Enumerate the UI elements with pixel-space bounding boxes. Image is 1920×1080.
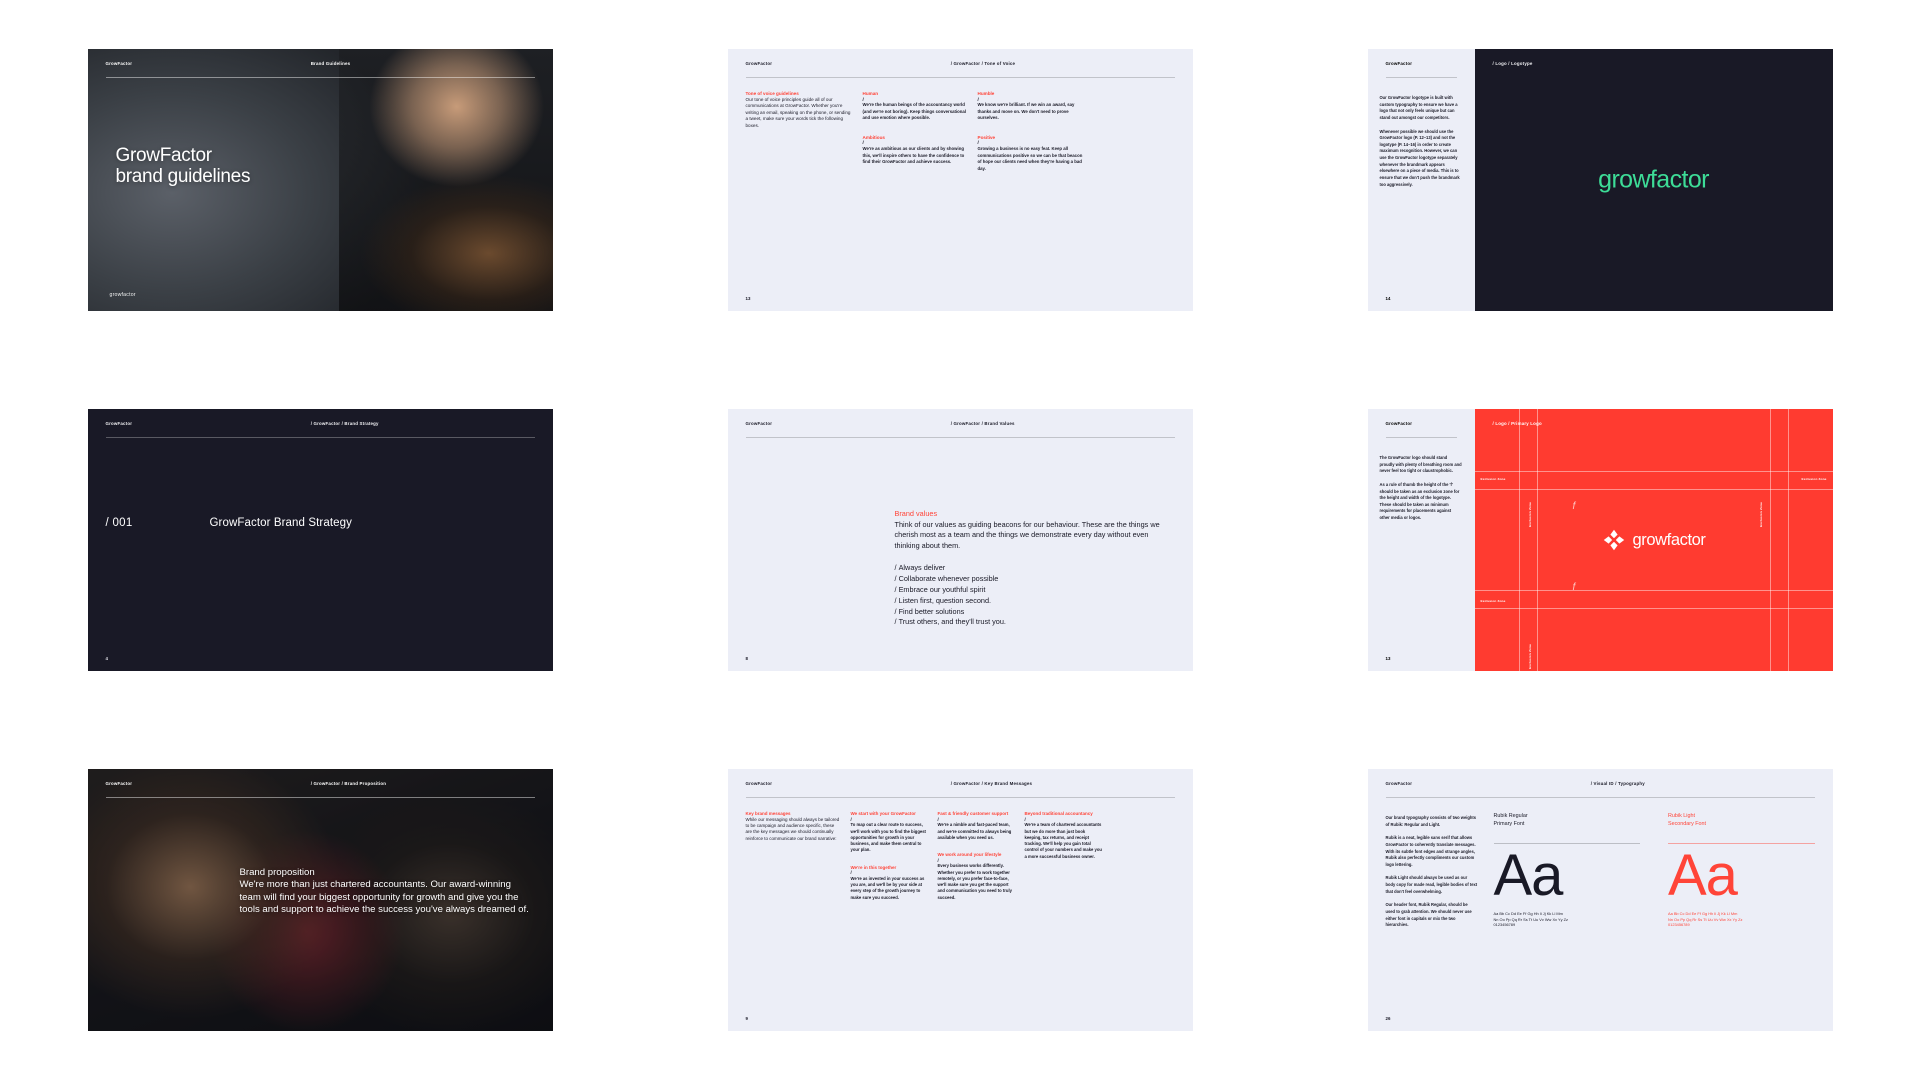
clearspace-body: The GrowFactor logo should stand proudly…	[1380, 455, 1463, 529]
page-number: 14	[1386, 296, 1391, 301]
key-message: We start with your GrowFactor / To map o…	[851, 811, 929, 854]
tone-principle-body: We know we're brilliant. If we win an aw…	[978, 102, 1084, 121]
growfactor-brandmark-icon	[1601, 528, 1625, 552]
tone-column-left: Human / We're the human beings of the ac…	[863, 91, 969, 185]
font-specimen-secondary: Rubik Light Secondary Font Aa Aa Bb Cc D…	[1668, 813, 1815, 928]
cover-title-line2: brand guidelines	[116, 166, 251, 187]
primary-logo-wordmark: growfactor	[1632, 531, 1705, 550]
cover-title: GrowFactor brand guidelines	[116, 145, 251, 188]
font-name: Rubik Regular	[1494, 813, 1641, 821]
brand-values-body: Think of our values as guiding beacons f…	[895, 520, 1173, 552]
divider-row: / 001 GrowFactor Brand Strategy	[88, 517, 553, 529]
page-number: 8	[746, 656, 748, 661]
font-name: Rubik Light	[1668, 813, 1815, 821]
clearspace-canvas: / Logo / Primary Logo Exclusion Zone Exc…	[1475, 409, 1833, 671]
tone-principle: Human / We're the human beings of the ac…	[863, 91, 969, 122]
tone-principle-name: Positive	[978, 135, 1084, 140]
list-item: / Trust others, and they'll trust you.	[895, 617, 1173, 628]
messages-columns: Key brand messages While our messaging s…	[746, 811, 1179, 912]
slide-typography[interactable]: GrowFactor / Visual ID / Typography Our …	[1368, 769, 1833, 1031]
guide-line-horizontal	[1475, 608, 1833, 609]
key-message: We work around your lifestyle / Every bu…	[938, 852, 1016, 901]
logotype-paragraph: Our GrowFactor logotype is built with cu…	[1380, 95, 1463, 122]
tone-intro-body: Our tone of voice principles guide all o…	[746, 97, 854, 130]
page-number: 13	[746, 296, 751, 301]
key-message-body: Every business works differently. Whethe…	[938, 863, 1016, 901]
list-item: / Collaborate whenever possible	[895, 574, 1173, 585]
tone-principle-body: We're as ambitious as our clients and by…	[863, 146, 969, 165]
font-glyph-set: Aa Bb Cc Dd Ee Ff Gg Hh Ii Jj Kk Ll Mm N…	[1494, 911, 1641, 929]
header-breadcrumb: / GrowFactor / Brand Strategy	[311, 421, 379, 426]
header-logo: GrowFactor	[106, 781, 133, 786]
header-rule	[1386, 77, 1457, 78]
divider-label: GrowFactor Brand Strategy	[210, 517, 352, 529]
messages-intro-column: Key brand messages While our messaging s…	[746, 811, 842, 912]
guide-line-vertical	[1788, 409, 1789, 671]
header-logo: GrowFactor	[106, 61, 133, 66]
tone-column-right: Humble / We know we're brilliant. If we …	[978, 91, 1084, 185]
exclusion-zone-label: Exclusion Zone	[1481, 477, 1506, 481]
messages-column-1: We start with your GrowFactor / To map o…	[851, 811, 929, 912]
slide-divider-brand-strategy[interactable]: GrowFactor / GrowFactor / Brand Strategy…	[88, 409, 553, 671]
key-message-body: To map out a clear route to success, we'…	[851, 822, 929, 853]
key-message-name: Fast & friendly customer support	[938, 811, 1016, 817]
list-item: / Find better solutions	[895, 607, 1173, 618]
logotype-split: GrowFactor Our GrowFactor logotype is bu…	[1368, 49, 1833, 311]
cover-wordmark: growfactor	[110, 292, 136, 298]
slide-brand-proposition[interactable]: GrowFactor / GrowFactor / Brand Proposit…	[88, 769, 553, 1031]
tone-principle: Ambitious / We're as ambitious as our cl…	[863, 135, 969, 166]
page-number: 26	[1386, 1016, 1391, 1021]
slide-header: GrowFactor / GrowFactor / Brand Values	[728, 409, 1193, 437]
header-rule	[1386, 437, 1457, 438]
primary-logo-lockup: growfactor	[1601, 528, 1705, 552]
header-breadcrumb: / GrowFactor / Key Brand Messages	[951, 781, 1033, 786]
header-breadcrumb: Brand Guidelines	[311, 61, 351, 66]
slide-cover[interactable]: GrowFactor Brand Guidelines GrowFactor b…	[88, 49, 553, 311]
brand-values-heading: Brand values	[895, 509, 1173, 520]
typography-body: Our brand typography consists of two wei…	[1386, 815, 1478, 936]
slide-key-brand-messages[interactable]: GrowFactor / GrowFactor / Key Brand Mess…	[728, 769, 1193, 1031]
slide-header: GrowFactor	[1368, 49, 1475, 77]
tone-principle-name: Ambitious	[863, 135, 969, 140]
f-height-marker: f	[1573, 501, 1576, 512]
key-message-body: We're as invested in your success as you…	[851, 876, 929, 901]
tone-intro-column: Tone of voice guidelines Our tone of voi…	[746, 91, 854, 185]
font-specimen-glyph: Aa	[1668, 848, 1815, 903]
header-logo: GrowFactor	[1386, 421, 1413, 426]
logotype-body: Our GrowFactor logotype is built with cu…	[1380, 95, 1463, 195]
header-breadcrumb: / GrowFactor / Brand Proposition	[311, 781, 386, 786]
header-logo: GrowFactor	[746, 781, 773, 786]
messages-column-2: Fast & friendly customer support / We're…	[938, 811, 1016, 912]
exclusion-zone-label: Exclusion Zone	[1802, 477, 1827, 481]
header-logo: GrowFactor	[746, 61, 773, 66]
clearspace-text-panel: GrowFactor The GrowFactor logo should st…	[1368, 409, 1475, 671]
header-breadcrumb: / Logo / Primary Logo	[1493, 421, 1542, 426]
header-breadcrumb: / GrowFactor / Tone of Voice	[951, 61, 1015, 66]
font-specimens: Rubik Regular Primary Font Aa Aa Bb Cc D…	[1494, 813, 1815, 928]
f-height-marker: f	[1573, 582, 1576, 593]
page-number: 13	[1386, 656, 1391, 661]
guide-line-vertical	[1770, 409, 1771, 671]
slide-header: GrowFactor	[1368, 409, 1475, 437]
header-rule	[746, 77, 1175, 78]
tone-intro-heading: Tone of voice guidelines	[746, 91, 854, 96]
slide-primary-logo-clearspace[interactable]: GrowFactor The GrowFactor logo should st…	[1368, 409, 1833, 671]
guide-line-horizontal	[1475, 471, 1833, 472]
header-breadcrumb: / Visual ID / Typography	[1591, 781, 1645, 786]
tone-principle: Positive / Growing a business is no easy…	[978, 135, 1084, 172]
clearspace-display-panel: / Logo / Primary Logo Exclusion Zone Exc…	[1475, 409, 1833, 671]
brand-value-text: Embrace our youthful spirit	[899, 585, 986, 594]
key-message-name: Beyond traditional accountancy	[1025, 811, 1103, 817]
tone-principle-name: Humble	[978, 91, 1084, 96]
header-rule	[746, 797, 1175, 798]
proposition-body: We're more than just chartered accountan…	[240, 879, 531, 916]
slide-header: GrowFactor / Visual ID / Typography	[1368, 769, 1833, 797]
header-logo: GrowFactor	[746, 421, 773, 426]
header-rule	[106, 437, 535, 438]
tone-principle-body: We're the human beings of the accountanc…	[863, 102, 969, 121]
header-rule	[106, 797, 535, 798]
font-role: Secondary Font	[1668, 821, 1815, 829]
cover-title-line1: GrowFactor	[116, 145, 251, 166]
font-specimen-primary: Rubik Regular Primary Font Aa Aa Bb Cc D…	[1494, 813, 1641, 928]
slide-logotype[interactable]: GrowFactor Our GrowFactor logotype is bu…	[1368, 49, 1833, 311]
guide-line-vertical	[1519, 409, 1520, 671]
list-item: / Embrace our youthful spirit	[895, 585, 1173, 596]
header-logo: GrowFactor	[106, 421, 133, 426]
tone-columns: Tone of voice guidelines Our tone of voi…	[746, 91, 1179, 185]
key-message: Beyond traditional accountancy / We're a…	[1025, 811, 1103, 860]
brand-value-text: Find better solutions	[899, 607, 965, 616]
header-breadcrumb: / GrowFactor / Brand Values	[951, 421, 1015, 426]
brand-value-text: Listen first, question second.	[899, 596, 991, 605]
brand-value-text: Collaborate whenever possible	[899, 574, 999, 583]
header-rule	[1386, 797, 1815, 798]
header-rule	[106, 77, 535, 78]
proposition-content: Brand proposition We're more than just c…	[240, 867, 531, 916]
brand-values-list: / Always deliver / Collaborate whenever …	[895, 563, 1173, 628]
brand-value-text: Always deliver	[899, 563, 946, 572]
typography-paragraph: Rubik Light should always be used as our…	[1386, 875, 1478, 895]
exclusion-zone-label: Exclusion Zone	[1528, 644, 1532, 669]
slide-header: GrowFactor / GrowFactor / Brand Strategy	[88, 409, 553, 437]
glyphs-numerals: 0123456789	[1494, 922, 1641, 928]
exclusion-zone-label: Exclusion Zone	[1528, 502, 1532, 527]
typography-paragraph: Rubik is a neat, legible sans serif that…	[1386, 835, 1478, 868]
key-message: We're in this together / We're as invest…	[851, 865, 929, 901]
key-message-body: We're a team of chartered accountants bu…	[1025, 822, 1103, 860]
font-role: Primary Font	[1494, 821, 1641, 829]
slide-header: GrowFactor / GrowFactor / Tone of Voice	[728, 49, 1193, 77]
messages-intro-body: While our messaging should always be tai…	[746, 817, 842, 843]
glyphs-numerals: 0123456789	[1668, 922, 1815, 928]
guide-line-horizontal	[1475, 489, 1833, 490]
slide-tone-of-voice[interactable]: GrowFactor / GrowFactor / Tone of Voice …	[728, 49, 1193, 311]
typography-paragraph: Our header font, Rubik Regular, should b…	[1386, 902, 1478, 929]
list-item: / Always deliver	[895, 563, 1173, 574]
proposition-title: Brand proposition	[240, 867, 531, 879]
header-logo: GrowFactor	[1386, 61, 1413, 66]
key-message: Fast & friendly customer support / We're…	[938, 811, 1016, 841]
list-item: / Listen first, question second.	[895, 596, 1173, 607]
logotype-text-panel: GrowFactor Our GrowFactor logotype is bu…	[1368, 49, 1475, 311]
header-breadcrumb: / Logo / Logotype	[1493, 61, 1533, 66]
font-specimen-glyph: Aa	[1494, 848, 1641, 903]
slide-brand-values[interactable]: GrowFactor / GrowFactor / Brand Values B…	[728, 409, 1193, 671]
exclusion-zone-label: Exclusion Zone	[1481, 599, 1506, 603]
page-number: 4	[106, 656, 108, 661]
logotype-display-panel: / Logo / Logotype growfactor	[1475, 49, 1833, 311]
slide-header: GrowFactor / GrowFactor / Brand Proposit…	[88, 769, 553, 797]
tone-principle-body: Growing a business is no easy feat. Keep…	[978, 146, 1084, 172]
slide-header-right: / Logo / Logotype	[1475, 49, 1833, 77]
clearspace-split: GrowFactor The GrowFactor logo should st…	[1368, 409, 1833, 671]
brand-values-content: Brand values Think of our values as guid…	[895, 509, 1173, 628]
messages-column-3: Beyond traditional accountancy / We're a…	[1025, 811, 1103, 912]
slide-header: GrowFactor Brand Guidelines	[88, 49, 553, 77]
green-logotype: growfactor	[1598, 166, 1709, 195]
key-message-body: We're a nimble and fast-paced team, and …	[938, 822, 1016, 841]
tone-principle-name: Human	[863, 91, 969, 96]
font-glyph-set: Aa Bb Cc Dd Ee Ff Gg Hh Ii Jj Kk Ll Mm N…	[1668, 911, 1815, 929]
slide-grid: GrowFactor Brand Guidelines GrowFactor b…	[0, 0, 1920, 1080]
page-number: 9	[746, 1016, 748, 1021]
divider-number: / 001	[106, 517, 210, 529]
typography-paragraph: Our brand typography consists of two wei…	[1386, 815, 1478, 828]
header-rule	[746, 437, 1175, 438]
header-logo: GrowFactor	[1386, 781, 1413, 786]
tone-principle: Humble / We know we're brilliant. If we …	[978, 91, 1084, 122]
slide-header-right: / Logo / Primary Logo	[1475, 409, 1833, 437]
logotype-paragraph: Whenever possible we should use the Grow…	[1380, 129, 1463, 189]
guide-line-vertical	[1537, 409, 1538, 671]
guide-line-horizontal	[1475, 590, 1833, 591]
clearspace-paragraph: The GrowFactor logo should stand proudly…	[1380, 455, 1463, 475]
brand-value-text: Trust others, and they'll trust you.	[899, 617, 1006, 626]
clearspace-paragraph: As a rule of thumb the height of the 'f'…	[1380, 482, 1463, 522]
exclusion-zone-label: Exclusion Zone	[1759, 502, 1763, 527]
slide-header: GrowFactor / GrowFactor / Key Brand Mess…	[728, 769, 1193, 797]
